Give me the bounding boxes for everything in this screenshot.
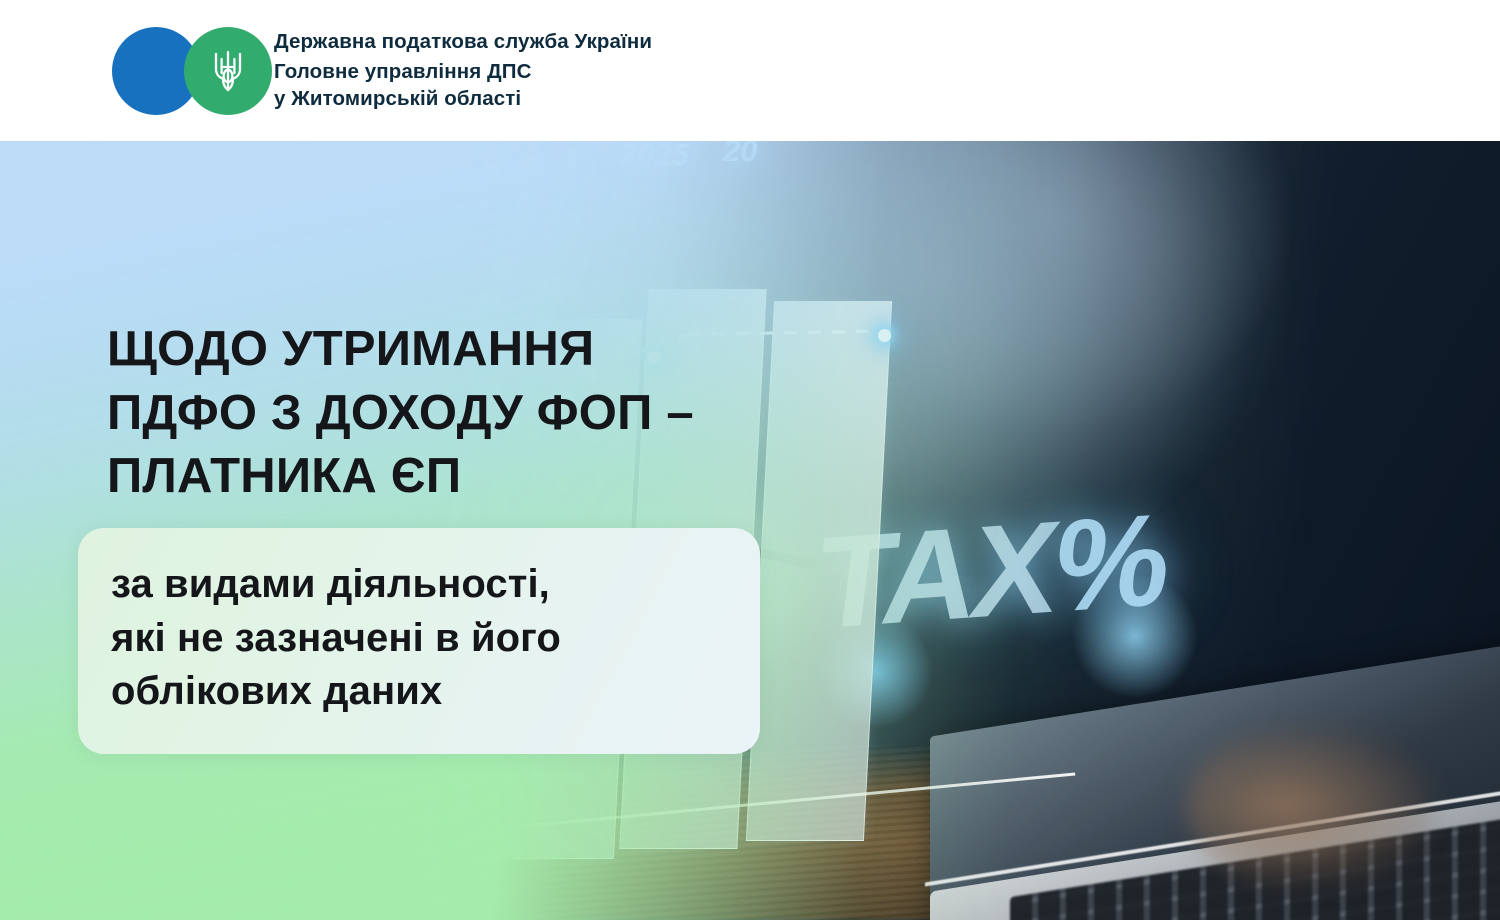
- subtitle-card: за видами діяльності, які не зазначені в…: [78, 528, 760, 754]
- poster-page: Державна податкова служба України Головн…: [0, 0, 1500, 920]
- header-org-text: Державна податкова служба України Головн…: [274, 28, 652, 112]
- subtitle-text: за видами діяльності, які не зазначені в…: [111, 558, 738, 719]
- dps-logo: [112, 27, 264, 115]
- trident-icon: [208, 45, 248, 97]
- org-name-line-1: Державна податкова служба України: [274, 28, 652, 57]
- page-title: ЩОДО УТРИМАННЯ ПДФО З ДОХОДУ ФОП – ПЛАТН…: [107, 318, 694, 509]
- org-name-line-3: у Житомирській області: [274, 85, 652, 112]
- brand-header: Державна податкова служба України Головн…: [0, 0, 1500, 141]
- org-name-line-2: Головне управління ДПС: [274, 58, 652, 85]
